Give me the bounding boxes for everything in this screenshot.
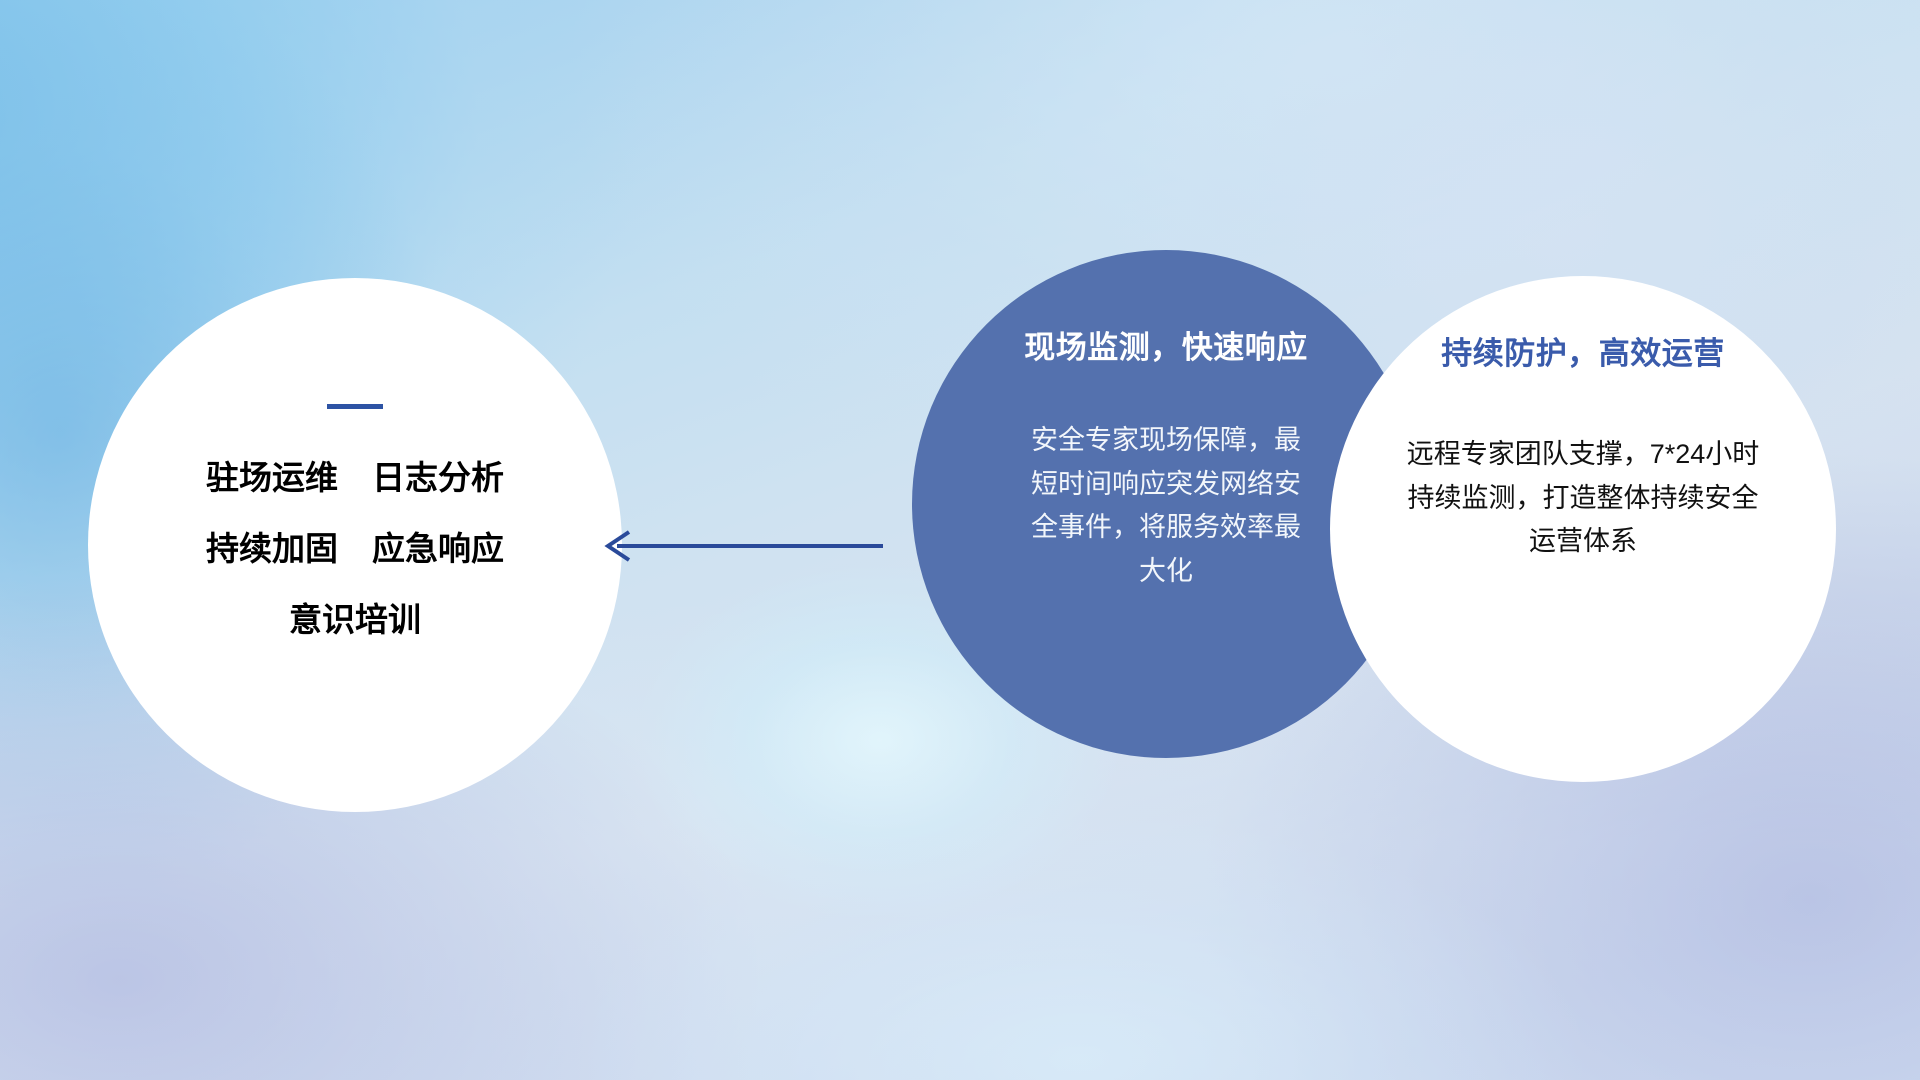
continuous-protection-content: 持续防护，高效运营 远程专家团队支撑，7*24小时持续监测，打造整体持续安全运营…	[1330, 276, 1836, 782]
continuous-protection-circle: 持续防护，高效运营 远程专家团队支撑，7*24小时持续监测，打造整体持续安全运营…	[1330, 276, 1836, 782]
slide-canvas: 驻场运维 日志分析 持续加固 应急响应 意识培训 现场监测，快速响应 安全专家现…	[0, 0, 1920, 1080]
keyword-row: 持续加固 应急响应	[206, 532, 504, 565]
capability-keyword: 意识培训	[289, 603, 421, 636]
capability-keyword: 日志分析	[372, 461, 504, 494]
capability-keywords-circle: 驻场运维 日志分析 持续加固 应急响应 意识培训	[88, 278, 622, 812]
capability-keyword-list: 驻场运维 日志分析 持续加固 应急响应 意识培训	[206, 461, 504, 636]
onsite-monitoring-title: 现场监测，快速响应	[1024, 322, 1308, 367]
left-arrow-icon	[595, 520, 885, 572]
continuous-protection-body: 远程专家团队支撑，7*24小时持续监测，打造整体持续安全运营体系	[1399, 433, 1767, 564]
capability-keyword: 驻场运维	[206, 461, 338, 494]
continuous-protection-title: 持续防护，高效运营	[1441, 328, 1725, 373]
keyword-row: 意识培训	[206, 603, 504, 636]
capability-keyword: 应急响应	[372, 532, 504, 565]
keyword-row: 驻场运维 日志分析	[206, 461, 504, 494]
capability-keyword: 持续加固	[206, 532, 338, 565]
onsite-monitoring-body: 安全专家现场保障，最短时间响应突发网络安全事件，将服务效率最大化	[1021, 419, 1311, 594]
horizontal-dash-icon	[327, 404, 383, 409]
